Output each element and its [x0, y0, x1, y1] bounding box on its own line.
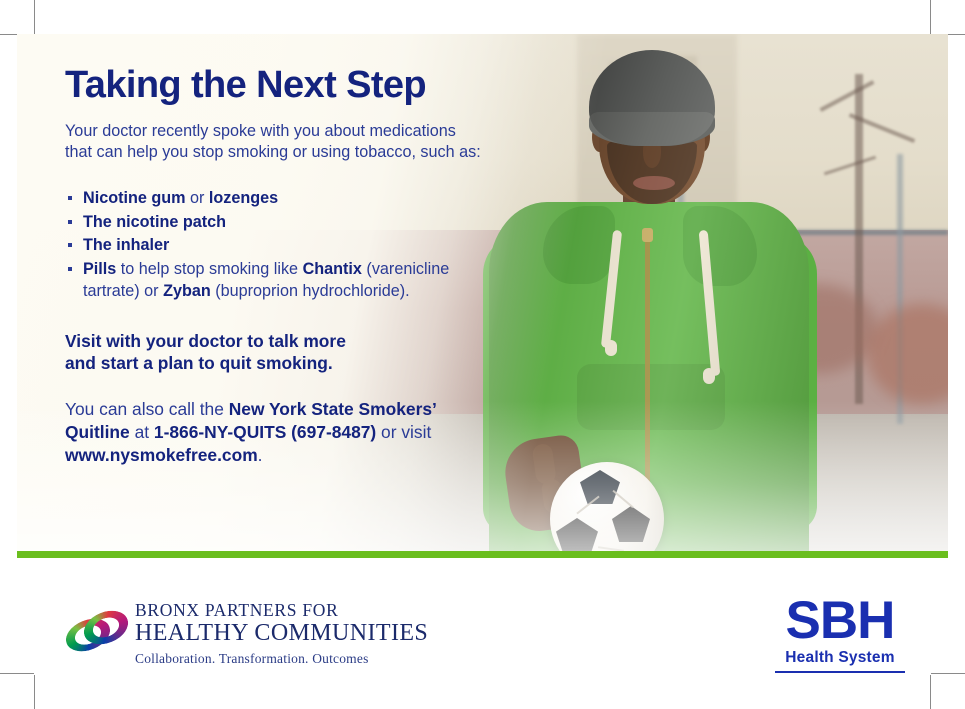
quitline-website[interactable]: www.nysmokefree.com: [65, 445, 258, 465]
footer: BRONX PARTNERS FOR HEALTHY COMMUNITIES C…: [17, 558, 948, 673]
list-item: Nicotine gum or lozenges: [65, 187, 495, 210]
list-item: The nicotine patch: [65, 211, 495, 234]
med-generic-2: (buproprion hydrochloride).: [211, 282, 410, 300]
hero-photo: Taking the Next Step Your doctor recentl…: [17, 34, 948, 551]
call-to-action: Visit with your doctor to talk more and …: [65, 330, 495, 374]
med-phrase: to help stop smoking like: [116, 260, 302, 278]
bphc-line-1: BRONX PARTNERS FOR: [135, 600, 428, 620]
bphc-tagline: Collaboration. Transformation. Outcomes: [135, 651, 428, 667]
quitline-phone: 1-866-NY-QUITS (697-8487): [154, 422, 376, 442]
med-brand-zyban: Zyban: [163, 282, 211, 300]
intro-paragraph: Your doctor recently spoke with you abou…: [65, 121, 495, 163]
list-item: The inhaler: [65, 234, 495, 257]
crop-mark-bottom-right-v: [930, 675, 931, 709]
intro-line-1: Your doctor recently spoke with you abou…: [65, 122, 456, 140]
med-name: The nicotine patch: [83, 213, 226, 231]
quitline-orvisit: or visit: [376, 422, 431, 442]
intro-line-2: that can help you stop smoking or using …: [65, 143, 481, 161]
bphc-logo: [63, 606, 135, 658]
quitline-paragraph: You can also call the New York State Smo…: [65, 398, 495, 467]
bphc-rings-icon: [63, 606, 135, 658]
sbh-logo: SBH Health System BRONX: [775, 596, 905, 673]
med-brand-chantix: Chantix: [303, 260, 362, 278]
med-name: The inhaler: [83, 236, 169, 254]
crop-mark-bottom-right-h: [931, 673, 965, 674]
poster-artboard: Taking the Next Step Your doctor recentl…: [17, 34, 948, 673]
cta-line-2: and start a plan to quit smoking.: [65, 353, 333, 373]
crop-mark-top-left-v: [34, 0, 35, 34]
med-name-alt: lozenges: [209, 189, 278, 207]
quitline-at: at: [130, 422, 154, 442]
green-divider-rule: [17, 551, 948, 558]
bphc-wordmark: BRONX PARTNERS FOR HEALTHY COMMUNITIES C…: [135, 600, 428, 667]
quitline-period: .: [258, 445, 263, 465]
crop-mark-top-right-v: [930, 0, 931, 34]
quitline-prefix: You can also call the: [65, 399, 229, 419]
medication-list: Nicotine gum or lozenges The nicotine pa…: [65, 187, 495, 303]
sbh-location-bar: BRONX: [775, 671, 905, 673]
list-item: Pills to help stop smoking like Chantix …: [65, 258, 495, 303]
bphc-line-2: HEALTHY COMMUNITIES: [135, 620, 428, 646]
crop-mark-bottom-left-h: [0, 673, 34, 674]
crop-mark-bottom-left-v: [34, 675, 35, 709]
med-name: Nicotine gum: [83, 189, 186, 207]
med-conjunction: or: [186, 189, 209, 207]
sbh-subtitle: Health System: [775, 649, 905, 667]
cta-line-1: Visit with your doctor to talk more: [65, 331, 346, 351]
poster-copy: Taking the Next Step Your doctor recentl…: [65, 63, 495, 467]
med-name: Pills: [83, 260, 116, 278]
page-title: Taking the Next Step: [65, 63, 495, 107]
sbh-wordmark: SBH: [775, 596, 905, 646]
